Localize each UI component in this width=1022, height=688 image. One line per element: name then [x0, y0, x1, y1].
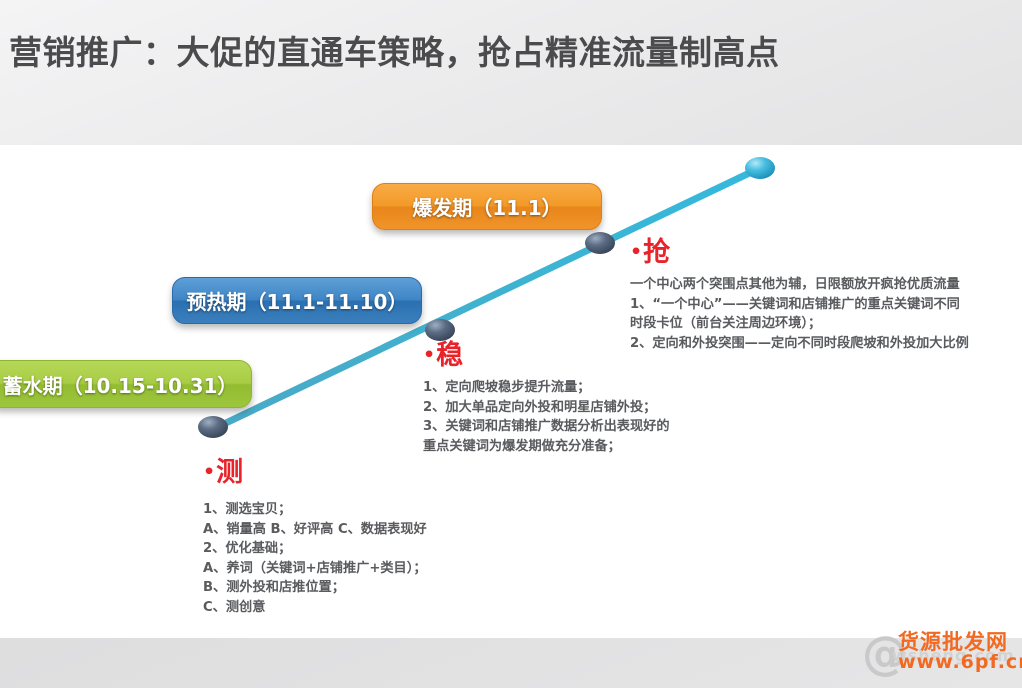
body-line: 重点关键词为爆发期做充分准备； [423, 437, 670, 457]
body-line: 时段卡位（前台关注周边环境）； [630, 314, 969, 334]
bullet-dot-qiang: • [630, 241, 642, 263]
stage-pill-blue[interactable]: 预热期（11.1-11.10） [172, 277, 422, 324]
marker-point-3 [585, 232, 615, 254]
stage-pill-blue-label: 预热期（11.1-11.10） [187, 286, 408, 315]
content-panel: 蓄水期（10.15-10.31） 预热期（11.1-11.10） 爆发期（11.… [0, 145, 1022, 638]
body-line: 2、定向和外投突围——定向不同时段爬坡和外投加大比例 [630, 334, 969, 354]
body-block-qiang: 一个中心两个突围点其他为辅，日限额放开疯抢优质流量 1、“一个中心”——关键词和… [630, 275, 969, 353]
body-line: C、测创意 [203, 598, 427, 618]
watermark-ghost-text: wsheng.com [892, 646, 1015, 665]
slide-root: 营销推广：大促的直通车策略，抢占精准流量制高点 [0, 0, 1022, 688]
body-line: 一个中心两个突围点其他为辅，日限额放开疯抢优质流量 [630, 275, 969, 295]
body-line: 1、“一个中心”——关键词和店铺推广的重点关键词不同 [630, 295, 969, 315]
body-line: 2、优化基础； [203, 539, 427, 559]
body-line: 2、加大单品定向外投和明星店铺外投； [423, 398, 670, 418]
body-line: B、测外投和店推位置； [203, 578, 427, 598]
stage-pill-orange-label: 爆发期（11.1） [412, 192, 561, 221]
heading-qiang: •抢 [630, 230, 670, 269]
heading-ce: •测 [203, 450, 243, 489]
marker-point-4 [745, 157, 775, 179]
heading-wen-text: 稳 [436, 340, 463, 371]
stage-pill-orange[interactable]: 爆发期（11.1） [372, 183, 602, 230]
body-line: 1、定向爬坡稳步提升流量； [423, 378, 670, 398]
watermark-site-url: www.6pf.cn [898, 651, 1022, 673]
body-line: A、养词（关键词+店铺推广+类目）； [203, 559, 427, 579]
body-line: A、销量高 B、好评高 C、数据表现好 [203, 520, 427, 540]
body-line: 1、测选宝贝； [203, 500, 427, 520]
heading-wen: •稳 [423, 333, 463, 372]
stage-pill-green[interactable]: 蓄水期（10.15-10.31） [0, 360, 252, 408]
body-line: 3、关键词和店铺推广数据分析出表现好的 [423, 417, 670, 437]
marker-point-1 [198, 416, 228, 438]
bullet-dot-wen: • [423, 344, 435, 366]
bullet-dot-ce: • [203, 461, 215, 483]
body-block-ce: 1、测选宝贝； A、销量高 B、好评高 C、数据表现好 2、优化基础； A、养词… [203, 500, 427, 617]
page-title: 营销推广：大促的直通车策略，抢占精准流量制高点 [9, 26, 780, 74]
body-block-wen: 1、定向爬坡稳步提升流量； 2、加大单品定向外投和明星店铺外投； 3、关键词和店… [423, 378, 670, 456]
heading-ce-text: 测 [216, 457, 243, 488]
heading-qiang-text: 抢 [643, 237, 670, 268]
stage-pill-green-label: 蓄水期（10.15-10.31） [3, 370, 238, 399]
slide-title-bar: 营销推广：大促的直通车策略，抢占精准流量制高点 [0, 0, 1022, 145]
